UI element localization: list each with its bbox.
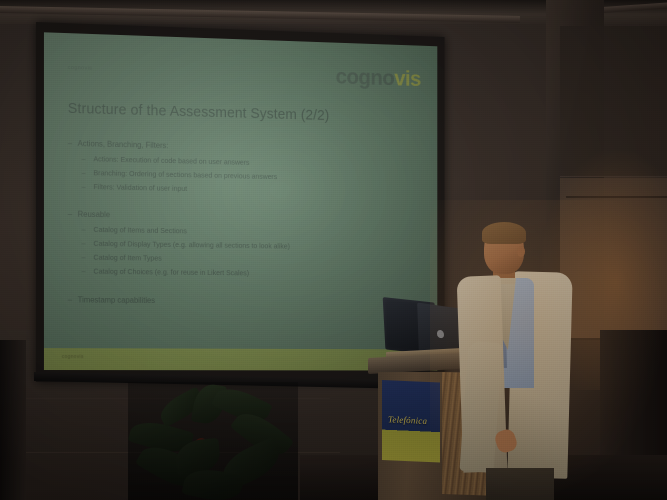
apple-logo-icon	[437, 329, 444, 338]
potted-plant	[128, 382, 298, 500]
logo-text-vis: vis	[394, 66, 421, 91]
presenter-trousers	[486, 468, 554, 500]
bullet-item: Catalog of Choices (e.g. for reuse in Li…	[68, 267, 415, 280]
bullet-item: Catalog of Display Types (e.g. allowing …	[68, 238, 415, 252]
presentation-room-photo: cognovis cognovis Structure of the Asses…	[0, 0, 667, 500]
cognovis-logo: cognovis	[336, 66, 421, 90]
bullet-item: Filters: Validation of user input	[68, 182, 415, 198]
telefonica-logo: Telefónica	[388, 414, 427, 426]
bullet-heading: Timestamp capabilities	[68, 295, 415, 308]
slide-body: Actions, Branching, Filters: Actions: Ex…	[68, 139, 415, 312]
presenter-ear	[517, 246, 525, 257]
presenter	[462, 222, 587, 500]
podium-sign: Telefónica	[382, 380, 440, 463]
presenter-hair	[482, 222, 526, 244]
slide-title: Structure of the Assessment System (2/2)	[68, 101, 330, 124]
slide-footer-left: cognovis	[62, 354, 84, 360]
bullet-item: Catalog of Items and Sections	[68, 224, 415, 239]
slide-eyebrow: cognovis	[68, 65, 93, 72]
logo-text-cogno: cogno	[336, 64, 395, 90]
bullet-item: Catalog of Item Types	[68, 253, 415, 267]
left-dark-edge	[0, 340, 26, 500]
projected-slide: cognovis cognovis Structure of the Asses…	[44, 32, 437, 370]
